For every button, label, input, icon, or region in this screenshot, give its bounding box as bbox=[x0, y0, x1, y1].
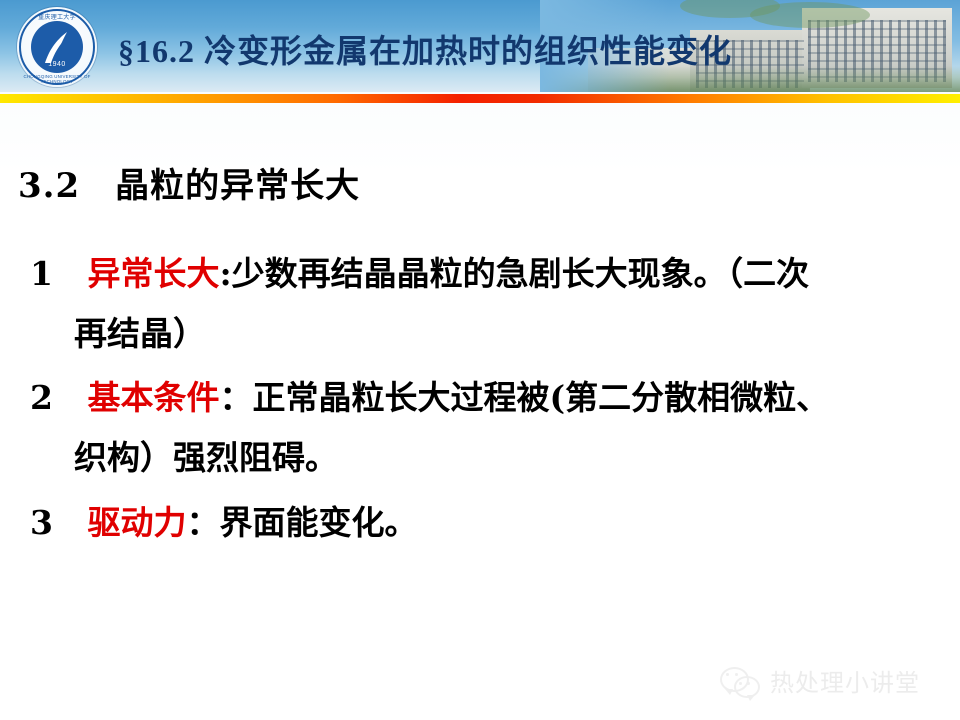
list-item: 1 异常长大:少数再结晶晶粒的急剧长大现象。（二次 再结晶） bbox=[30, 244, 948, 364]
item-keyword: 基本条件 bbox=[87, 378, 219, 417]
slide-body: 3.2 晶粒的异常长大 1 异常长大:少数再结晶晶粒的急剧长大现象。（二次 再结… bbox=[0, 103, 960, 720]
list-item: 2 基本条件：正常晶粒长大过程被(第二分散相微粒、 织构）强烈阻碍。 bbox=[30, 368, 948, 488]
wechat-icon bbox=[720, 667, 760, 695]
wechat-bubble-small bbox=[734, 676, 760, 698]
item-text: 正常晶粒长大过程被(第二分散相微粒、 bbox=[252, 378, 829, 417]
item-number: 3 bbox=[30, 503, 53, 542]
slide: 重庆理工大学 1940 CHONGQING UNIVERSITY OF TECH… bbox=[0, 0, 960, 720]
logo-bottom-text: CHONGQING UNIVERSITY OF TECHNOLOGY bbox=[17, 74, 97, 84]
item-number: 1 bbox=[30, 254, 53, 293]
item-continuation: 再结晶） bbox=[30, 304, 948, 364]
page-title: §16.2 冷变形金属在加热时的组织性能变化 bbox=[118, 26, 938, 72]
slide-header: 重庆理工大学 1940 CHONGQING UNIVERSITY OF TECH… bbox=[0, 0, 960, 92]
wechat-eye-4 bbox=[747, 682, 750, 685]
item-separator: : bbox=[219, 254, 231, 293]
wechat-eye-3 bbox=[739, 682, 742, 685]
logo-top-text: 重庆理工大学 bbox=[17, 12, 97, 21]
item-text: 少数再结晶晶粒的急剧长大现象。（二次 bbox=[232, 254, 810, 293]
watermark-text: 热处理小讲堂 bbox=[770, 663, 920, 698]
watermark: 热处理小讲堂 bbox=[720, 663, 920, 698]
item-keyword: 异常长大 bbox=[87, 254, 219, 293]
wechat-eye-1 bbox=[726, 673, 729, 676]
logo-year: 1940 bbox=[17, 61, 97, 68]
section-heading: 3.2 晶粒的异常长大 bbox=[18, 158, 360, 207]
item-number: 2 bbox=[30, 378, 53, 417]
item-separator: ： bbox=[219, 378, 252, 417]
item-continuation: 织构）强烈阻碍。 bbox=[30, 428, 948, 488]
item-separator: ： bbox=[186, 503, 219, 542]
item-text: 界面能变化。 bbox=[219, 503, 417, 542]
university-logo: 重庆理工大学 1940 CHONGQING UNIVERSITY OF TECH… bbox=[17, 7, 97, 87]
list-item: 3 驱动力：界面能变化。 bbox=[30, 493, 948, 553]
header-divider-bar bbox=[0, 94, 960, 103]
item-keyword: 驱动力 bbox=[87, 503, 186, 542]
wechat-eye-2 bbox=[735, 673, 738, 676]
